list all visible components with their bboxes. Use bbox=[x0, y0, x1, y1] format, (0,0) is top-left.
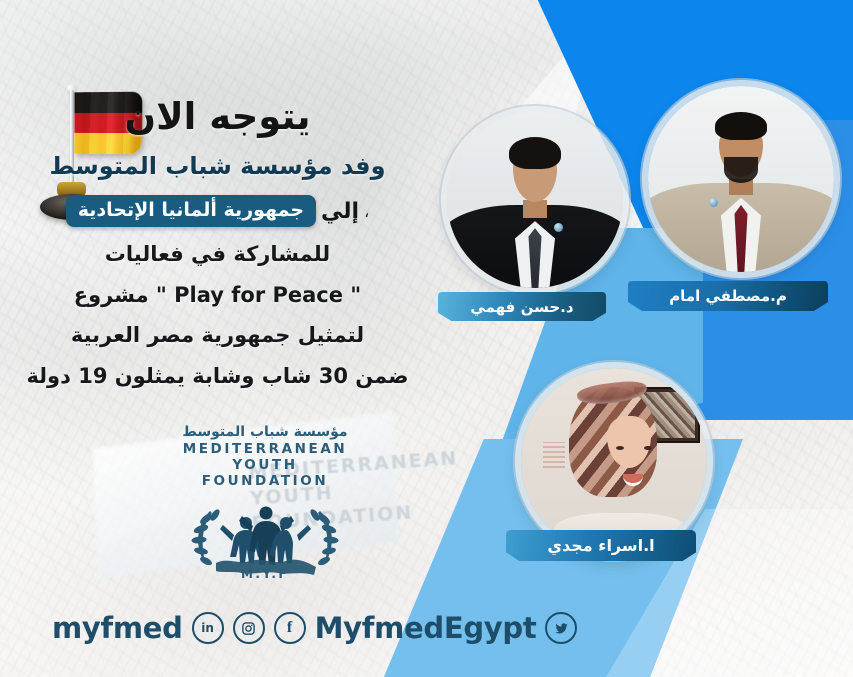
destination-pill-badge: جمهورية ألمانيا الإتحادية bbox=[66, 195, 316, 227]
poster-canvas: MEDITERRANEAN YOUTH FOUNDATION يتوجه الا… bbox=[0, 0, 853, 677]
headline-line-now: يتوجه الان bbox=[0, 96, 435, 139]
facebook-icon[interactable]: f bbox=[274, 612, 306, 644]
myf-logo-arabic: مؤسسة شباب المتوسط bbox=[150, 424, 380, 440]
handle-myfmed: myfmed bbox=[52, 611, 183, 645]
facebook-glyph: f bbox=[287, 619, 292, 637]
myf-logo-english-line2: FOUNDATION bbox=[150, 473, 380, 489]
handle-myfmedegypt: MyfmedEgypt bbox=[315, 611, 537, 645]
headline-line-participation: للمشاركة في فعاليات bbox=[0, 239, 435, 271]
portrait-photo bbox=[648, 86, 834, 272]
headline-line-representing: لتمثيل جمهورية مصر العربية bbox=[0, 320, 435, 352]
twitter-icon[interactable] bbox=[545, 612, 577, 644]
right-eye bbox=[644, 446, 652, 450]
name-badge-hassan-fahmy: د.حسن فهمي bbox=[438, 292, 606, 321]
hair bbox=[509, 137, 561, 169]
portrait-photo bbox=[447, 112, 623, 288]
instagram-icon[interactable] bbox=[233, 612, 265, 644]
lapel-pin bbox=[709, 198, 718, 207]
project-name-en: " Play for Peace " bbox=[156, 283, 361, 307]
name-badge-esraa-magdy: ا.اسراء مجدي bbox=[506, 530, 696, 561]
portrait-photo bbox=[521, 368, 707, 554]
beard bbox=[724, 157, 758, 183]
myf-logo: مؤسسة شباب المتوسط MEDITERRANEAN YOUTH F… bbox=[150, 424, 380, 559]
linkedin-glyph: in bbox=[201, 621, 214, 635]
myf-logo-emblem: M.Y.F bbox=[190, 491, 340, 577]
myf-logo-abbrev: M.Y.F bbox=[190, 567, 340, 581]
headline-to-prefix: إلي bbox=[321, 199, 359, 224]
portrait-hassan-fahmy bbox=[447, 112, 623, 288]
portrait-esraa-magdy bbox=[521, 368, 707, 554]
neck bbox=[523, 200, 547, 218]
myf-logo-english-line1: MEDITERRANEAN YOUTH bbox=[150, 441, 380, 473]
hair bbox=[715, 112, 767, 140]
name-badge-mostafa-emam: م.مصطفي امام bbox=[628, 281, 828, 311]
headline-trailing-comma: ، bbox=[364, 202, 369, 221]
wall-decoration bbox=[543, 442, 565, 468]
project-label-ar: مشروع bbox=[74, 283, 149, 307]
headline-line-project: " Play for Peace " مشروع bbox=[0, 280, 435, 312]
footer-social-bar: myfmed in f MyfmedEgypt bbox=[52, 611, 577, 645]
portrait-mostafa-emam bbox=[648, 86, 834, 272]
headline-destination-row: ، إلي جمهورية ألمانيا الإتحادية bbox=[0, 195, 435, 227]
linkedin-icon[interactable]: in bbox=[192, 612, 224, 644]
headline-block: يتوجه الان وفد مؤسسة شباب المتوسط ، إلي … bbox=[0, 96, 435, 401]
headline-line-delegation: وفد مؤسسة شباب المتوسط bbox=[0, 152, 435, 181]
headline-line-participants: ضمن 30 شاب وشابة يمثلون 19 دولة bbox=[0, 361, 435, 393]
